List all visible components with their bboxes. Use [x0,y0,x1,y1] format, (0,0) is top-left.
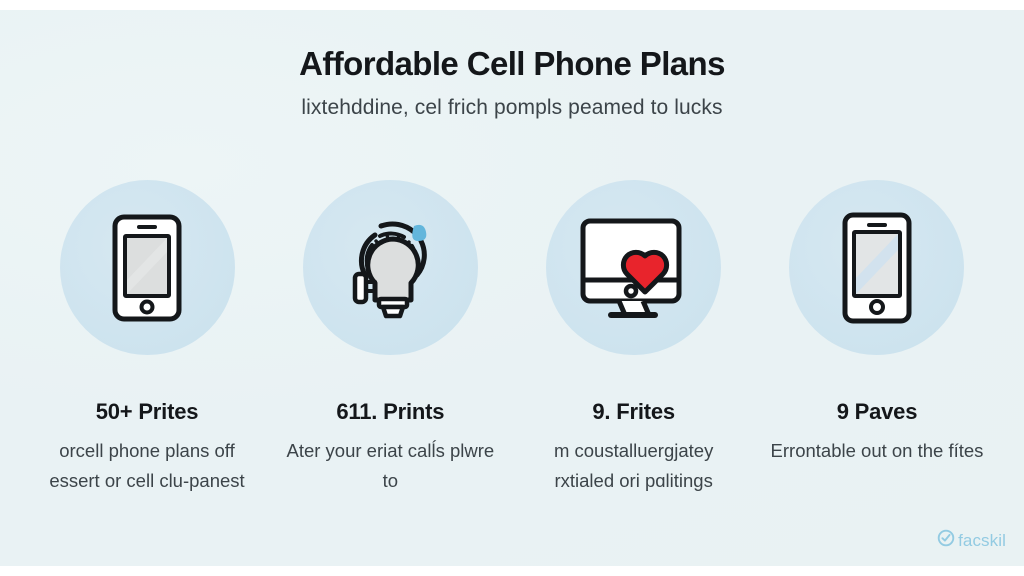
facskil-check-circle-icon [937,529,955,552]
feature-column-3: 9. Frites m coustalluergjatey rxtialed o… [515,180,753,496]
smartphone-icon [101,212,193,324]
watermark-label: facskil [958,531,1006,551]
feature-body-1: orcell phone plans off essert or cell cl… [40,436,255,496]
watermark: facskil [937,529,1006,552]
page-subtitle: lixtehddine, cel frich pompls peamed to … [0,93,1024,123]
feature-title-1: 50+ Prites [96,398,199,426]
page-title: Affordable Cell Phone Plans [0,44,1024,84]
desktop-monitor-heart-icon [575,214,693,322]
tablet-device-icon [834,210,920,326]
feature-title-4: 9 Paves [837,398,918,426]
infographic-slide: Affordable Cell Phone Plans lixtehddine,… [0,0,1024,576]
feature-column-1: 50+ Prites orcell phone plans off essert… [28,180,266,496]
feature-column-4: 9 Paves Errontable out on the fítes [758,180,996,466]
icon-circle-2 [303,180,478,355]
feature-title-3: 9. Frites [592,398,675,426]
icon-circle-1 [60,180,235,355]
feature-body-2: Ater your eriat calĺs plwre to [283,436,498,496]
icon-circle-4 [789,180,964,355]
lightbulb-idea-icon [335,209,445,327]
header: Affordable Cell Phone Plans lixtehddine,… [0,44,1024,123]
feature-column-2: 611. Prints Ater your eriat calĺs plwre … [271,180,509,496]
feature-body-4: Errontable out on the fítes [771,436,984,466]
feature-title-2: 611. Prints [336,398,444,426]
slide-canvas: Affordable Cell Phone Plans lixtehddine,… [0,10,1024,566]
feature-columns: 50+ Prites orcell phone plans off essert… [0,180,1024,496]
feature-body-3: m coustalluergjatey rxtialed ori pɑlitin… [526,436,741,496]
icon-circle-3 [546,180,721,355]
